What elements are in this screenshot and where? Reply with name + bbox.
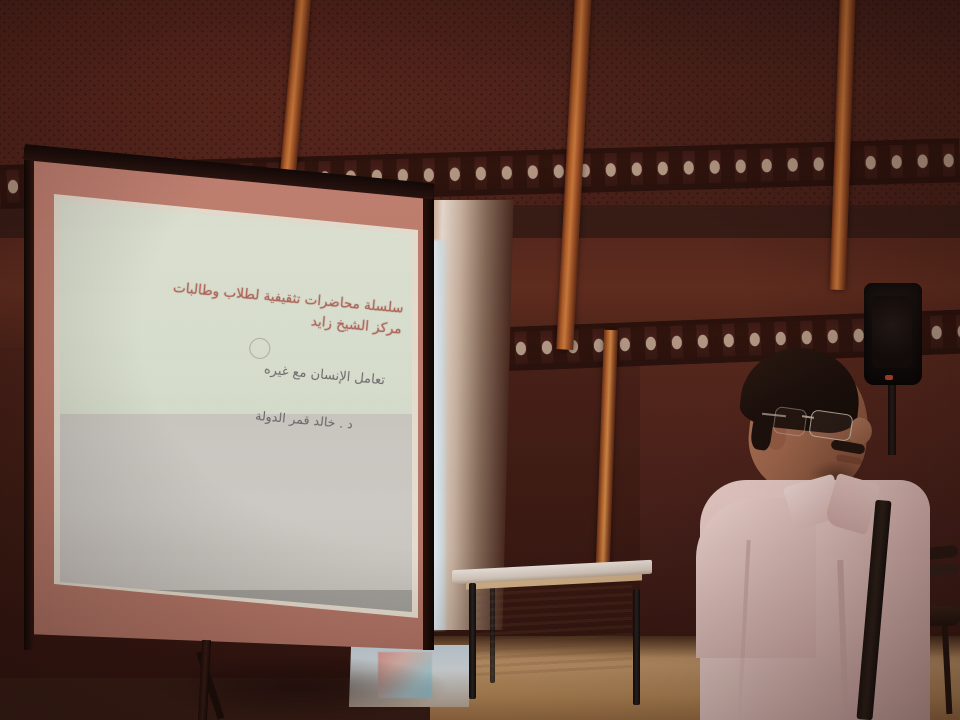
- desk-leg-left: [469, 583, 476, 699]
- photo-scene: سلسلة محاضرات تثقيفية لطلاب وطالبات مركز…: [0, 0, 960, 720]
- desk-front-panel: [474, 577, 632, 681]
- presenter-person: [690, 330, 960, 720]
- classroom-desk: [452, 565, 652, 720]
- eyeglasses-lens-far: [772, 406, 807, 437]
- projection-screen: سلسلة محاضرات تثقيفية لطلاب وطالبات مركز…: [24, 138, 434, 668]
- screen-frame-right: [423, 190, 434, 650]
- slide-content: سلسلة محاضرات تثقيفية لطلاب وطالبات مركز…: [60, 200, 412, 612]
- screen-frame-left: [24, 148, 34, 650]
- projected-slide: سلسلة محاضرات تثقيفية لطلاب وطالبات مركز…: [60, 200, 412, 612]
- eyeglasses-lens-near: [808, 409, 853, 442]
- slide-presenter-name: د . خالد قمر الدولة: [113, 395, 353, 432]
- circle-ornament-icon: [248, 337, 271, 360]
- desk-leg-right: [633, 589, 640, 705]
- slide-title: سلسلة محاضرات تثقيفية لطلاب وطالبات مركز…: [102, 272, 405, 341]
